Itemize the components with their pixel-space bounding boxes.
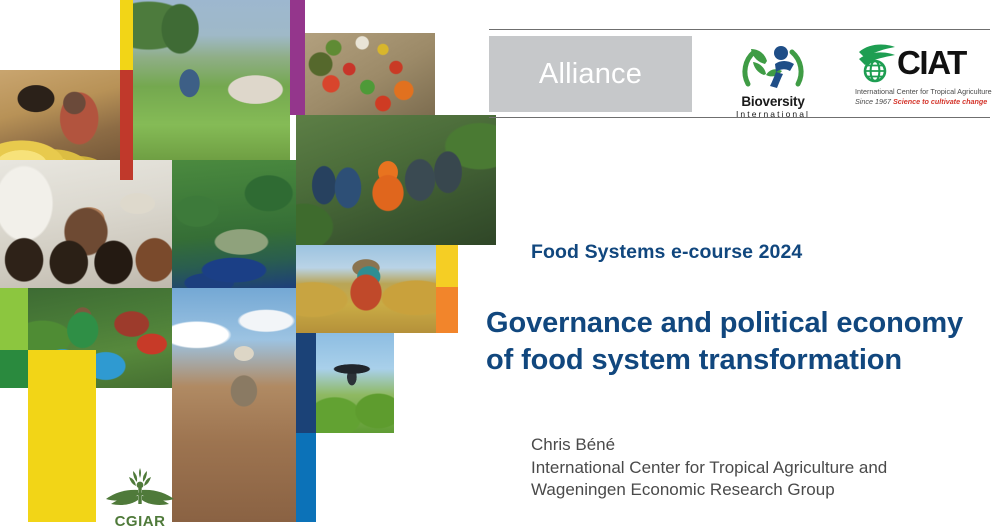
swatch-yellow-block-bottom (28, 350, 96, 522)
cgiar-logo: CGIAR (100, 466, 180, 522)
bioversity-wordmark: Bioversity (718, 95, 828, 109)
swatch-yellow-block-right (436, 245, 458, 287)
swatch-purple-bar (290, 0, 305, 115)
photo-collage: CGIAR (0, 0, 470, 522)
swatch-blue-dark-bar (296, 333, 316, 433)
photo-cattle-pasture-farmer (133, 0, 290, 160)
author-block: Chris Béné International Center for Trop… (531, 434, 991, 502)
cgiar-emblem-icon (100, 466, 180, 508)
photo-vegetable-market-spread (305, 33, 435, 115)
ciat-logo: CIAT International Center for Tropical A… (855, 40, 990, 112)
photo-laboratory-scientist (0, 160, 172, 288)
photo-forest-river-aerial (172, 160, 296, 288)
photo-agri-drone-ricefield (316, 333, 394, 433)
author-affiliation-line2: Wageningen Economic Research Group (531, 479, 991, 502)
author-affiliation-line1: International Center for Tropical Agricu… (531, 457, 991, 480)
ciat-since: Since 1967 (855, 97, 891, 106)
ciat-globe-leaf-icon (855, 40, 899, 84)
bioversity-emblem-icon (718, 40, 828, 90)
author-name: Chris Béné (531, 434, 991, 457)
swatch-orange-block-right (436, 287, 458, 333)
ciat-acronym: CIAT (897, 46, 966, 79)
slide-title-line2: of food system transformation (486, 342, 1000, 379)
swatch-red-bar (120, 70, 133, 180)
swatch-yellow-bar-top (120, 0, 133, 70)
course-label: Food Systems e-course 2024 (531, 241, 802, 264)
alliance-label: Alliance (539, 58, 642, 91)
photo-soil-planting-farmer (172, 288, 296, 522)
presentation-title-slide: CGIAR Alliance Bioversity International (0, 0, 1000, 522)
swatch-blue-light-bar (296, 433, 316, 522)
photo-field-training-group (296, 115, 496, 245)
header-rule-top (489, 29, 990, 30)
bioversity-subtitle: International (718, 110, 828, 119)
swatch-green-light-block (0, 288, 28, 350)
ciat-tagline: International Center for Tropical Agricu… (855, 87, 990, 96)
swatch-green-dark-block (0, 350, 28, 388)
slide-title: Governance and political economy of food… (486, 305, 1000, 379)
bioversity-international-logo: Bioversity International (718, 40, 828, 112)
alliance-logo-box: Alliance (489, 36, 692, 112)
photo-quinoa-farmer-andes (296, 245, 436, 333)
ciat-slogan: Science to cultivate change (893, 97, 987, 106)
slide-title-line1: Governance and political economy (486, 305, 1000, 342)
